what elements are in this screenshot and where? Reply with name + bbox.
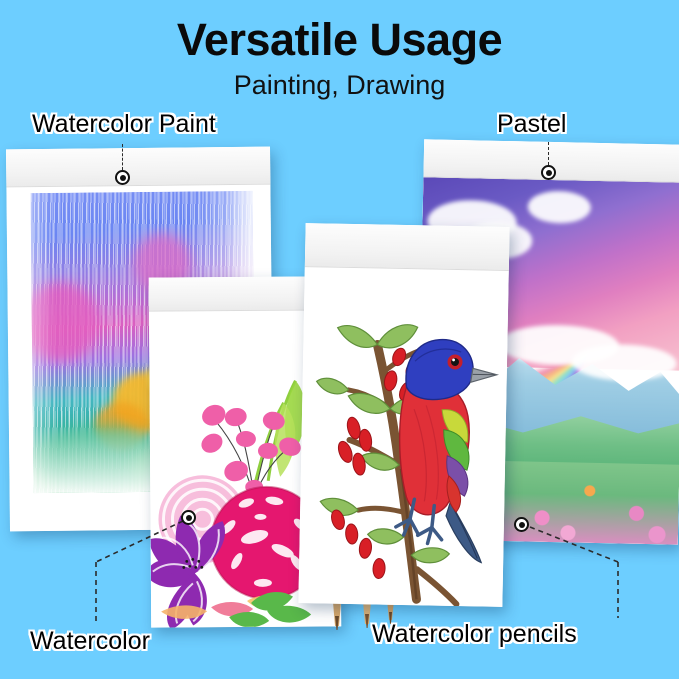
callout-marker-watercolor-pencils[interactable] xyxy=(514,517,529,532)
poster-canvas: Versatile Usage Painting, Drawing xyxy=(0,0,679,679)
leader-line-watercolor-pencils xyxy=(0,0,679,679)
callout-label-watercolor-pencils: Watercolor pencils xyxy=(372,620,577,649)
